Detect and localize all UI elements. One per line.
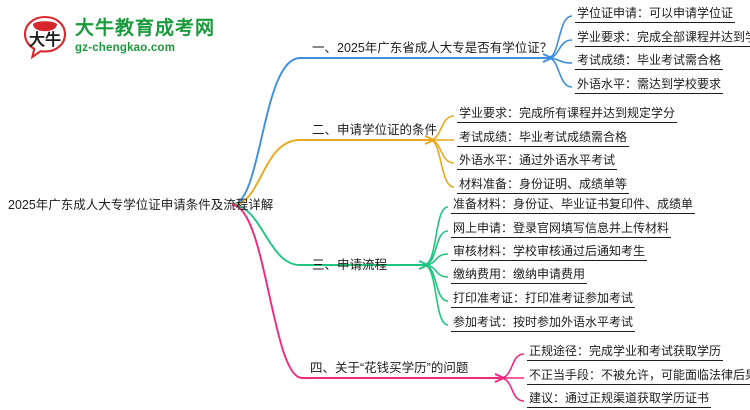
branch-4-arrow <box>495 374 504 382</box>
branch-4-child-3-label: 建议：通过正规渠道获取学历证书 <box>527 391 711 408</box>
branch-1-child-3-label: 考试成绩：毕业考试需合格 <box>575 53 723 70</box>
branch-2-trunk <box>232 140 430 205</box>
branch-3-child-5-label: 打印准考证：打印准考证参加考试 <box>451 291 635 308</box>
branch-3-child-5[interactable]: 打印准考证：打印准考证参加考试 <box>451 291 635 308</box>
branch-2-child-4-label: 材料准备：身份证明、成绩单等 <box>457 177 629 194</box>
site-logo: 大牛 大牛教育成考网 gz-chengkao.com <box>22 14 215 60</box>
branch-4-sub-3-wire <box>500 378 524 401</box>
branch-4-child-2-label: 不正当手段：不被允许，可能面临法律后果 <box>527 368 750 385</box>
branch-3-child-2-label: 网上申请：登录官网填写信息并上传材料 <box>451 221 671 238</box>
branch-1-sub-3-wire <box>548 58 572 63</box>
branch-1-child-4-label: 外语水平：需达到学校要求 <box>575 77 723 94</box>
branch-node-1[interactable]: 一、2025年广东省成人大专是否有学位证？ <box>310 41 554 57</box>
branch-1-child-3[interactable]: 考试成绩：毕业考试需合格 <box>575 53 723 70</box>
branch-2-child-1-label: 学业要求：完成所有课程并达到规定学分 <box>457 106 677 123</box>
branch-3-trunk <box>232 205 424 265</box>
branch-4-child-2[interactable]: 不正当手段：不被允许，可能面临法律后果 <box>527 368 750 385</box>
branch-4-child-1-label: 正规途径：完成学业和考试获取学历 <box>527 344 723 361</box>
svg-text:大牛: 大牛 <box>29 30 61 49</box>
branch-4-sub-1-wire <box>500 354 524 378</box>
branch-4-label: 四、关于“花钱买学历”的问题 <box>308 361 470 377</box>
branch-4-child-1[interactable]: 正规途径：完成学业和考试获取学历 <box>527 344 723 361</box>
branch-3-child-3[interactable]: 审核材料：学校审核通过后通知考生 <box>451 244 647 261</box>
branch-3-sub-3-wire <box>424 254 448 265</box>
branch-2-label: 二、申请学位证的条件 <box>310 123 439 139</box>
branch-2-child-2[interactable]: 考试成绩：毕业考试成绩需合格 <box>457 130 629 147</box>
branch-2-child-4[interactable]: 材料准备：身份证明、成绩单等 <box>457 177 629 194</box>
branch-2-sub-4-wire <box>430 140 454 187</box>
branch-1-child-1-label: 学位证申请：可以申请学位证 <box>575 6 735 23</box>
branch-node-3[interactable]: 三、申请流程 <box>310 258 389 274</box>
branch-1-label: 一、2025年广东省成人大专是否有学位证？ <box>310 41 554 57</box>
branch-node-4[interactable]: 四、关于“花钱买学历”的问题 <box>308 361 470 377</box>
branch-3-child-6-label: 参加考试：按时参加外语水平考试 <box>451 315 635 332</box>
branch-3-sub-6-wire <box>424 265 448 325</box>
mindmap-canvas: 大牛 大牛教育成考网 gz-chengkao.com <box>0 0 750 410</box>
branch-2-sub-3-wire <box>430 140 454 163</box>
logo-site-url: gz-chengkao.com <box>75 41 215 55</box>
bull-speech-bubble-logo-icon: 大牛 <box>22 14 68 60</box>
branch-3-child-1-label: 准备材料：身份证、毕业证书复印件、成绩单 <box>451 197 695 214</box>
branch-3-arrow <box>419 261 428 269</box>
branch-2-child-2-label: 考试成绩：毕业考试成绩需合格 <box>457 130 629 147</box>
branch-3-sub-4-wire <box>424 265 448 277</box>
branch-1-child-2[interactable]: 学业要求：完成全部课程并达到学分 <box>575 30 750 47</box>
branch-node-2[interactable]: 二、申请学位证的条件 <box>310 123 439 139</box>
branch-1-sub-4-wire <box>548 58 572 87</box>
branch-3-sub-1-wire <box>424 207 448 265</box>
branch-3-child-3-label: 审核材料：学校审核通过后通知考生 <box>451 244 647 261</box>
branch-4-child-3[interactable]: 建议：通过正规渠道获取学历证书 <box>527 391 711 408</box>
branch-3-sub-2-wire <box>424 231 448 265</box>
branch-1-child-4[interactable]: 外语水平：需达到学校要求 <box>575 77 723 94</box>
branch-2-child-3[interactable]: 外语水平：通过外语水平考试 <box>457 153 617 170</box>
branch-1-child-2-label: 学业要求：完成全部课程并达到学分 <box>575 30 750 47</box>
branch-3-child-4[interactable]: 缴纳费用：缴纳申请费用 <box>451 267 587 284</box>
branch-3-child-2[interactable]: 网上申请：登录官网填写信息并上传材料 <box>451 221 671 238</box>
branch-2-child-1[interactable]: 学业要求：完成所有课程并达到规定学分 <box>457 106 677 123</box>
branch-3-child-1[interactable]: 准备材料：身份证、毕业证书复印件、成绩单 <box>451 197 695 214</box>
branch-3-child-4-label: 缴纳费用：缴纳申请费用 <box>451 267 587 284</box>
branch-3-sub-5-wire <box>424 265 448 301</box>
branch-2-child-3-label: 外语水平：通过外语水平考试 <box>457 153 617 170</box>
branch-3-child-6[interactable]: 参加考试：按时参加外语水平考试 <box>451 315 635 332</box>
logo-company-name: 大牛教育成考网 <box>75 19 215 39</box>
branch-3-label: 三、申请流程 <box>310 258 389 274</box>
mindmap-root-node[interactable]: 2025年广东成人大专学位证申请条件及流程详解 <box>6 198 275 214</box>
branch-1-child-1[interactable]: 学位证申请：可以申请学位证 <box>575 6 735 23</box>
root-label: 2025年广东成人大专学位证申请条件及流程详解 <box>6 198 275 214</box>
